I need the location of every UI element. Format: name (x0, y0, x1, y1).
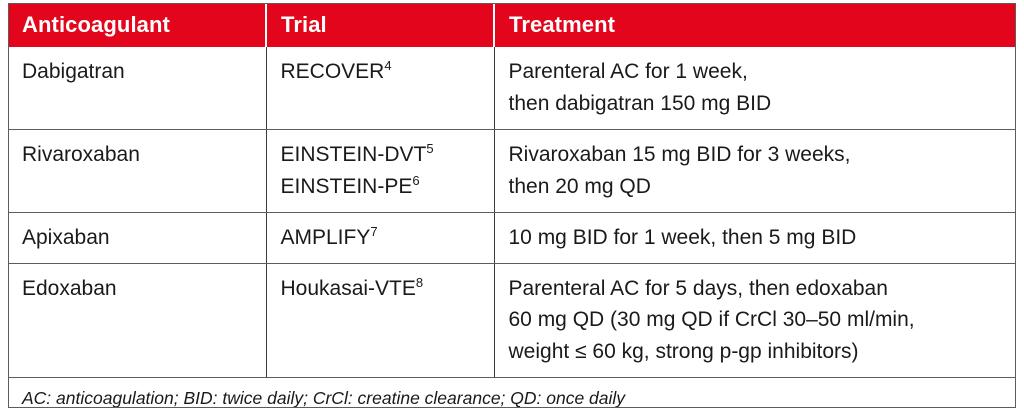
anticoagulant-treatment-table-container: Anticoagulant Trial Treatment Dabigatran… (8, 3, 1016, 419)
treatment-line: 10 mg BID for 1 week, then 5 mg BID (509, 222, 1007, 254)
trial-line: EINSTEIN-DVT5 (281, 139, 484, 171)
treatment-line: then dabigatran 150 mg BID (509, 88, 1007, 120)
table-row: Rivaroxaban EINSTEIN-DVT5 EINSTEIN-PE6 R… (8, 129, 1016, 212)
treatment-line: then 20 mg QD (509, 171, 1007, 203)
table-row: Edoxaban Houkasai-VTE8 Parenteral AC for… (8, 263, 1016, 378)
table-row: Apixaban AMPLIFY7 10 mg BID for 1 week, … (8, 212, 1016, 263)
column-header-trial: Trial (266, 3, 494, 47)
anticoagulant-treatment-table: Anticoagulant Trial Treatment Dabigatran… (8, 3, 1016, 419)
trial-line: RECOVER4 (281, 56, 484, 88)
cell-anticoagulant: Apixaban (8, 212, 266, 263)
treatment-line: 60 mg QD (30 mg QD if CrCl 30–50 ml/min, (509, 304, 1007, 336)
trial-line: AMPLIFY7 (281, 222, 484, 254)
cell-anticoagulant: Dabigatran (8, 47, 266, 129)
table-body: Dabigatran RECOVER4 Parenteral AC for 1 … (8, 47, 1016, 378)
column-header-treatment: Treatment (494, 3, 1016, 47)
cell-treatment: 10 mg BID for 1 week, then 5 mg BID (494, 212, 1016, 263)
cell-treatment: Rivaroxaban 15 mg BID for 3 weeks, then … (494, 129, 1016, 212)
cell-treatment: Parenteral AC for 5 days, then edoxaban … (494, 263, 1016, 378)
trial-reference-superscript: 5 (426, 141, 433, 156)
trial-reference-superscript: 8 (416, 275, 423, 290)
cell-trial: EINSTEIN-DVT5 EINSTEIN-PE6 (266, 129, 494, 212)
trial-name: AMPLIFY (281, 226, 371, 249)
table-footer: AC: anticoagulation; BID: twice daily; C… (8, 378, 1016, 419)
cell-trial: Houkasai-VTE8 (266, 263, 494, 378)
treatment-line: Rivaroxaban 15 mg BID for 3 weeks, (509, 139, 1007, 171)
table-footnote: AC: anticoagulation; BID: twice daily; C… (8, 378, 1016, 419)
treatment-line: Parenteral AC for 1 week, (509, 56, 1007, 88)
table-header-row: Anticoagulant Trial Treatment (8, 3, 1016, 47)
trial-name: EINSTEIN-DVT (281, 143, 427, 166)
trial-line: EINSTEIN-PE6 (281, 171, 484, 203)
table-row: Dabigatran RECOVER4 Parenteral AC for 1 … (8, 47, 1016, 129)
column-header-anticoagulant: Anticoagulant (8, 3, 266, 47)
cell-treatment: Parenteral AC for 1 week, then dabigatra… (494, 47, 1016, 129)
trial-name: Houkasai-VTE (281, 277, 416, 300)
treatment-line: Parenteral AC for 5 days, then edoxaban (509, 273, 1007, 305)
table-header: Anticoagulant Trial Treatment (8, 3, 1016, 47)
trial-reference-superscript: 4 (384, 58, 391, 73)
trial-line: Houkasai-VTE8 (281, 273, 484, 305)
treatment-line: weight ≤ 60 kg, strong p-gp inhibitors) (509, 336, 1007, 368)
trial-reference-superscript: 7 (370, 224, 377, 239)
cell-trial: AMPLIFY7 (266, 212, 494, 263)
footnote-row: AC: anticoagulation; BID: twice daily; C… (8, 378, 1016, 419)
trial-name: RECOVER (281, 60, 385, 83)
trial-name: EINSTEIN-PE (281, 175, 413, 198)
cell-trial: RECOVER4 (266, 47, 494, 129)
cell-anticoagulant: Edoxaban (8, 263, 266, 378)
cell-anticoagulant: Rivaroxaban (8, 129, 266, 212)
trial-reference-superscript: 6 (412, 173, 419, 188)
